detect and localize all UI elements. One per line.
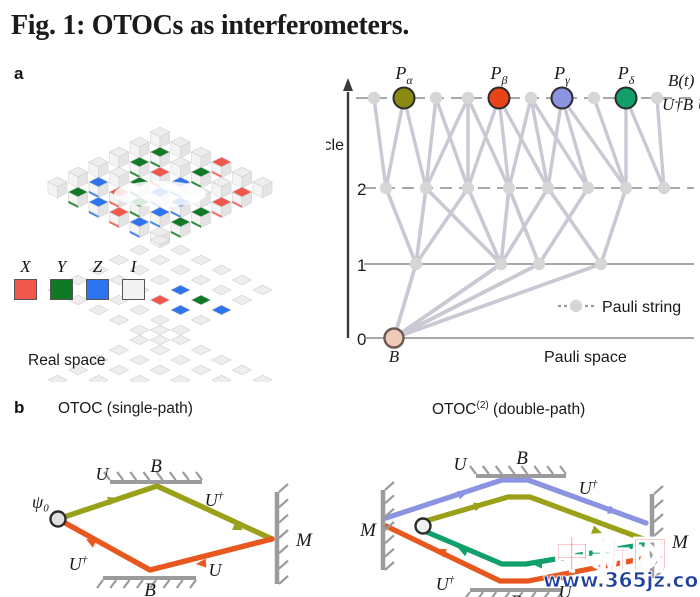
svg-text:B(t) =: B(t) = xyxy=(668,71,700,90)
real-space-label: Real space xyxy=(28,352,106,370)
otoc2-title-main: OTOC xyxy=(432,401,477,418)
svg-text:U: U xyxy=(209,560,223,580)
pauli-space-plot: Cycle210BPαPβPγPδB(t) =U†B UPauli string… xyxy=(326,62,700,382)
svg-text:B: B xyxy=(144,580,156,597)
svg-text:U†B U: U†B U xyxy=(662,95,700,114)
svg-text:U: U xyxy=(96,464,110,484)
svg-text:Pauli string: Pauli string xyxy=(602,299,681,316)
svg-text:U†: U† xyxy=(579,478,598,498)
legend-swatch-x xyxy=(14,279,37,300)
svg-text:Cycle: Cycle xyxy=(326,137,344,154)
figure-root: Fig. 1: OTOCs as interferometers. a X Y … xyxy=(0,0,700,597)
svg-text:M: M xyxy=(295,530,313,551)
legend-swatch-y xyxy=(50,279,73,300)
otoc-single-path-title: OTOC (single-path) xyxy=(58,400,193,418)
svg-text:Pauli space: Pauli space xyxy=(544,349,627,366)
svg-text:B: B xyxy=(389,347,400,366)
svg-text:Pδ: Pδ xyxy=(617,63,635,87)
lattice-stack-diagram xyxy=(0,62,330,382)
otoc-double-path-diagram: BBMMUU†U†U xyxy=(350,418,700,597)
svg-text:ψ₀: ψ₀ xyxy=(32,492,49,512)
svg-text:1: 1 xyxy=(357,256,366,275)
legend-labels-row: X Y Z I xyxy=(14,258,145,276)
svg-text:0: 0 xyxy=(357,330,366,349)
otoc2-title-superscript: (2) xyxy=(477,400,489,411)
svg-text:Pβ: Pβ xyxy=(490,63,508,87)
otoc-single-path-diagram: BBMψ₀UU†U†U xyxy=(0,418,350,597)
otoc2-title-rest: (double-path) xyxy=(489,401,586,418)
svg-text:U†: U† xyxy=(436,574,455,594)
panel-b-letter: b xyxy=(14,398,24,418)
svg-text:Pγ: Pγ xyxy=(553,63,570,87)
legend-swatches-row xyxy=(14,279,145,300)
otoc-double-path-title: OTOC(2) (double-path) xyxy=(432,400,585,419)
svg-text:B: B xyxy=(510,592,522,597)
legend-label-i: I xyxy=(122,258,145,276)
legend-swatch-i xyxy=(122,279,145,300)
legend-label-y: Y xyxy=(50,258,73,276)
svg-text:U†: U† xyxy=(69,554,88,574)
svg-text:Pα: Pα xyxy=(394,63,413,87)
svg-text:U†: U† xyxy=(205,490,224,510)
svg-text:B: B xyxy=(516,448,528,469)
pauli-operator-legend: X Y Z I xyxy=(14,258,145,300)
legend-label-z: Z xyxy=(86,258,109,276)
svg-text:M: M xyxy=(671,532,689,553)
legend-swatch-z xyxy=(86,279,109,300)
figure-title: Fig. 1: OTOCs as interferometers. xyxy=(11,10,671,42)
svg-text:B: B xyxy=(150,456,162,477)
svg-text:2: 2 xyxy=(357,180,366,199)
svg-text:U: U xyxy=(559,582,573,597)
legend-label-x: X xyxy=(14,258,37,276)
svg-text:U: U xyxy=(454,454,468,474)
svg-text:M: M xyxy=(359,520,377,541)
